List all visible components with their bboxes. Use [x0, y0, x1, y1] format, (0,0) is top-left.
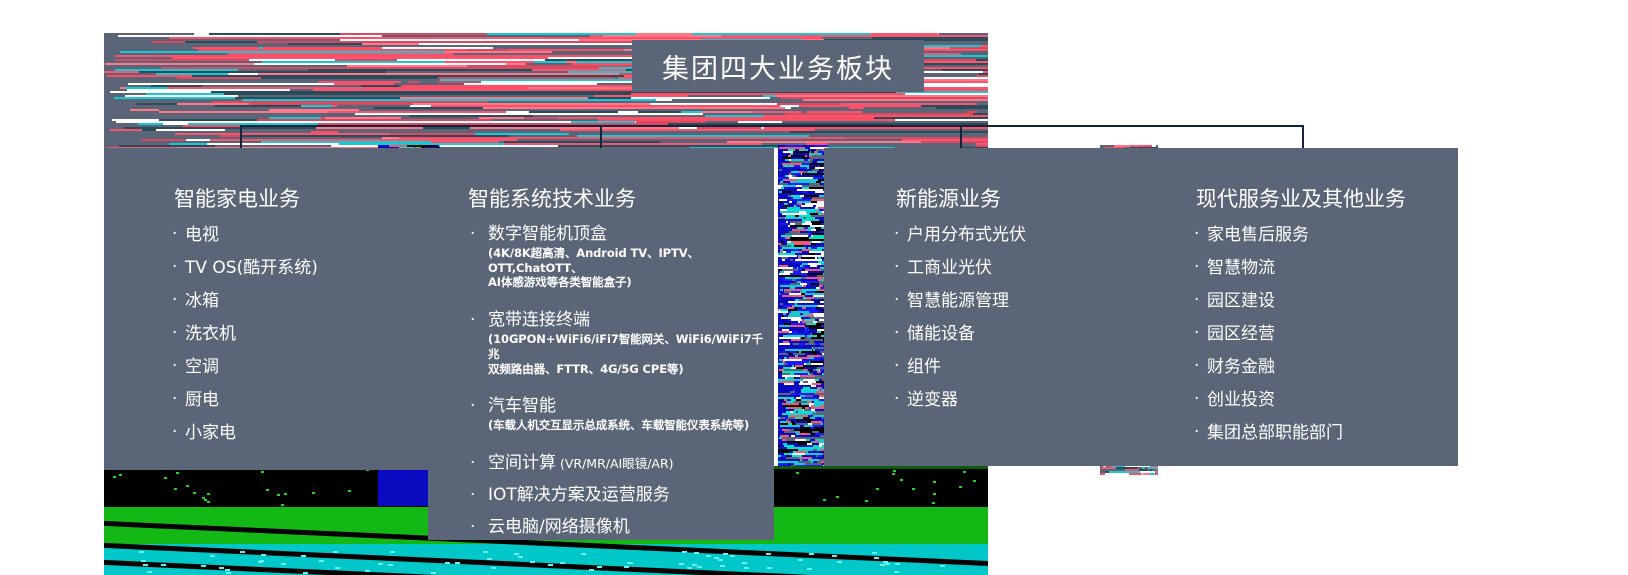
list-item[interactable]: ·数字智能机顶盒(4K/8K超高清、Android TV、IPTV、OTT,Ch…: [468, 224, 768, 290]
panel-item-list: ·户用分布式光伏·工商业光伏·智慧能源管理·储能设备·组件·逆变器: [894, 225, 1154, 423]
list-item-label: 组件: [907, 359, 941, 376]
panel-item-list: ·数字智能机顶盒(4K/8K超高清、Android TV、IPTV、OTT,Ch…: [468, 224, 768, 549]
list-item-label: 空间计算 (VR/MR/AI眼镜/AR): [488, 455, 674, 472]
list-item-label: 创业投资: [1207, 392, 1275, 409]
list-item-detail: (4K/8K超高清、Android TV、IPTV、OTT,ChatOTT、 A…: [488, 246, 768, 290]
list-item[interactable]: ·储能设备: [894, 324, 1154, 343]
list-item[interactable]: ·厨电: [172, 390, 452, 409]
bullet-dot-icon: ·: [1194, 424, 1199, 441]
bullet-dot-icon: ·: [172, 424, 177, 441]
list-item[interactable]: ·电视: [172, 225, 452, 244]
panel-modern-service: 现代服务业及其他业务 ·家电售后服务·智慧物流·园区建设·园区经营·财务金融·创…: [1158, 148, 1458, 466]
list-item[interactable]: ·IOT解决方案及运营服务: [468, 485, 768, 504]
list-item[interactable]: ·户用分布式光伏: [894, 225, 1154, 244]
list-item[interactable]: ·宽带连接终端(10GPON+WiFi6/iFi7智能网关、WiFi6/WiFi…: [468, 310, 768, 376]
list-item-label: 储能设备: [907, 326, 975, 343]
bullet-dot-icon: ·: [894, 292, 899, 309]
connector-horizontal: [240, 125, 1304, 127]
bullet-dot-icon: ·: [1194, 358, 1199, 375]
list-item[interactable]: ·逆变器: [894, 390, 1154, 409]
list-item[interactable]: ·冰箱: [172, 291, 452, 310]
list-item[interactable]: ·空间计算 (VR/MR/AI眼镜/AR): [468, 453, 768, 472]
panel-title: 智能家电业务: [174, 183, 300, 213]
list-item-label: TV OS(酷开系统): [185, 260, 318, 277]
panel-title: 新能源业务: [896, 183, 1001, 213]
list-item-label: 小家电: [185, 425, 236, 442]
list-item[interactable]: ·智慧能源管理: [894, 291, 1154, 310]
list-item-label: 园区建设: [1207, 293, 1275, 310]
panel-title: 智能系统技术业务: [468, 183, 636, 213]
bullet-dot-icon: ·: [470, 519, 475, 536]
list-item[interactable]: ·工商业光伏: [894, 258, 1154, 277]
list-item-label: 汽车智能: [488, 398, 556, 415]
list-item[interactable]: ·智慧物流: [1194, 258, 1464, 277]
panel-smart-appliance: 智能家电业务 ·电视·TV OS(酷开系统)·冰箱·洗衣机·空调·厨电·小家电: [104, 148, 464, 470]
list-item-label: 厨电: [185, 392, 219, 409]
bullet-dot-icon: ·: [894, 259, 899, 276]
bullet-dot-icon: ·: [470, 398, 475, 415]
list-item-label: 宽带连接终端: [488, 312, 590, 329]
list-item[interactable]: ·小家电: [172, 423, 452, 442]
list-item-label: 数字智能机顶盒: [488, 226, 607, 243]
glitch-noise-strip-2: [778, 145, 828, 475]
bullet-dot-icon: ·: [470, 226, 475, 243]
slide-canvas: 集团四大业务板块 智能家电业务 ·电视·TV OS(酷开系统)·冰箱·洗衣机·空…: [0, 0, 1628, 575]
list-item-detail: (车载人机交互显示总成系统、车载智能仪表系统等): [488, 418, 768, 433]
list-item-label: 逆变器: [907, 392, 958, 409]
list-item[interactable]: ·组件: [894, 357, 1154, 376]
panel-title: 现代服务业及其他业务: [1196, 183, 1406, 213]
list-item-label: 园区经营: [1207, 326, 1275, 343]
list-item-detail: (10GPON+WiFi6/iFi7智能网关、WiFi6/WiFi7千兆 双频路…: [488, 332, 768, 376]
list-item-label: 空调: [185, 359, 219, 376]
bullet-dot-icon: ·: [172, 292, 177, 309]
slide-title-box: 集团四大业务板块: [632, 40, 924, 92]
bullet-dot-icon: ·: [172, 259, 177, 276]
bullet-dot-icon: ·: [1194, 292, 1199, 309]
panel-new-energy: 新能源业务 ·户用分布式光伏·工商业光伏·智慧能源管理·储能设备·组件·逆变器: [824, 148, 1162, 466]
list-item[interactable]: ·财务金融: [1194, 357, 1464, 376]
list-item-label: 户用分布式光伏: [907, 227, 1026, 244]
bullet-dot-icon: ·: [172, 358, 177, 375]
page-title: 集团四大业务板块: [662, 47, 894, 86]
bullet-dot-icon: ·: [894, 226, 899, 243]
bullet-dot-icon: ·: [1194, 259, 1199, 276]
connector-branch-2: [600, 125, 602, 149]
list-item-label: 智慧物流: [1207, 260, 1275, 277]
panel-item-list: ·家电售后服务·智慧物流·园区建设·园区经营·财务金融·创业投资·集团总部职能部…: [1194, 225, 1464, 456]
list-item[interactable]: ·集团总部职能部门: [1194, 423, 1464, 442]
bullet-dot-icon: ·: [470, 312, 475, 329]
bullet-dot-icon: ·: [1194, 226, 1199, 243]
list-item-label: 集团总部职能部门: [1207, 425, 1343, 442]
list-item-label: 冰箱: [185, 293, 219, 310]
bullet-dot-icon: ·: [172, 391, 177, 408]
bullet-dot-icon: ·: [894, 358, 899, 375]
list-item[interactable]: ·云电脑/网络摄像机: [468, 517, 768, 536]
list-item-label: 智慧能源管理: [907, 293, 1009, 310]
list-item-label: 工商业光伏: [907, 260, 992, 277]
list-item[interactable]: ·园区经营: [1194, 324, 1464, 343]
bullet-dot-icon: ·: [1194, 391, 1199, 408]
list-item[interactable]: ·家电售后服务: [1194, 225, 1464, 244]
list-item[interactable]: ·空调: [172, 357, 452, 376]
list-item[interactable]: ·园区建设: [1194, 291, 1464, 310]
bullet-dot-icon: ·: [894, 325, 899, 342]
connector-branch-1: [240, 125, 242, 149]
connector-branch-4: [1302, 125, 1304, 149]
panel-smart-system-tech: 智能系统技术业务 ·数字智能机顶盒(4K/8K超高清、Android TV、IP…: [428, 148, 774, 540]
list-item-label: 云电脑/网络摄像机: [488, 519, 630, 536]
list-item-label: 电视: [185, 227, 219, 244]
bullet-dot-icon: ·: [894, 391, 899, 408]
bullet-dot-icon: ·: [470, 487, 475, 504]
panel-item-list: ·电视·TV OS(酷开系统)·冰箱·洗衣机·空调·厨电·小家电: [172, 225, 452, 456]
bullet-dot-icon: ·: [172, 325, 177, 342]
connector-branch-3: [960, 125, 962, 149]
list-item-label: IOT解决方案及运营服务: [488, 487, 670, 504]
list-item-label: 家电售后服务: [1207, 227, 1309, 244]
bullet-dot-icon: ·: [470, 455, 475, 472]
bullet-dot-icon: ·: [1194, 325, 1199, 342]
list-item[interactable]: ·TV OS(酷开系统): [172, 258, 452, 277]
list-item[interactable]: ·创业投资: [1194, 390, 1464, 409]
list-item[interactable]: ·汽车智能(车载人机交互显示总成系统、车载智能仪表系统等): [468, 396, 768, 433]
bullet-dot-icon: ·: [172, 226, 177, 243]
list-item-inline-note: (VR/MR/AI眼镜/AR): [556, 456, 674, 471]
list-item[interactable]: ·洗衣机: [172, 324, 452, 343]
list-item-label: 洗衣机: [185, 326, 236, 343]
list-item-label: 财务金融: [1207, 359, 1275, 376]
